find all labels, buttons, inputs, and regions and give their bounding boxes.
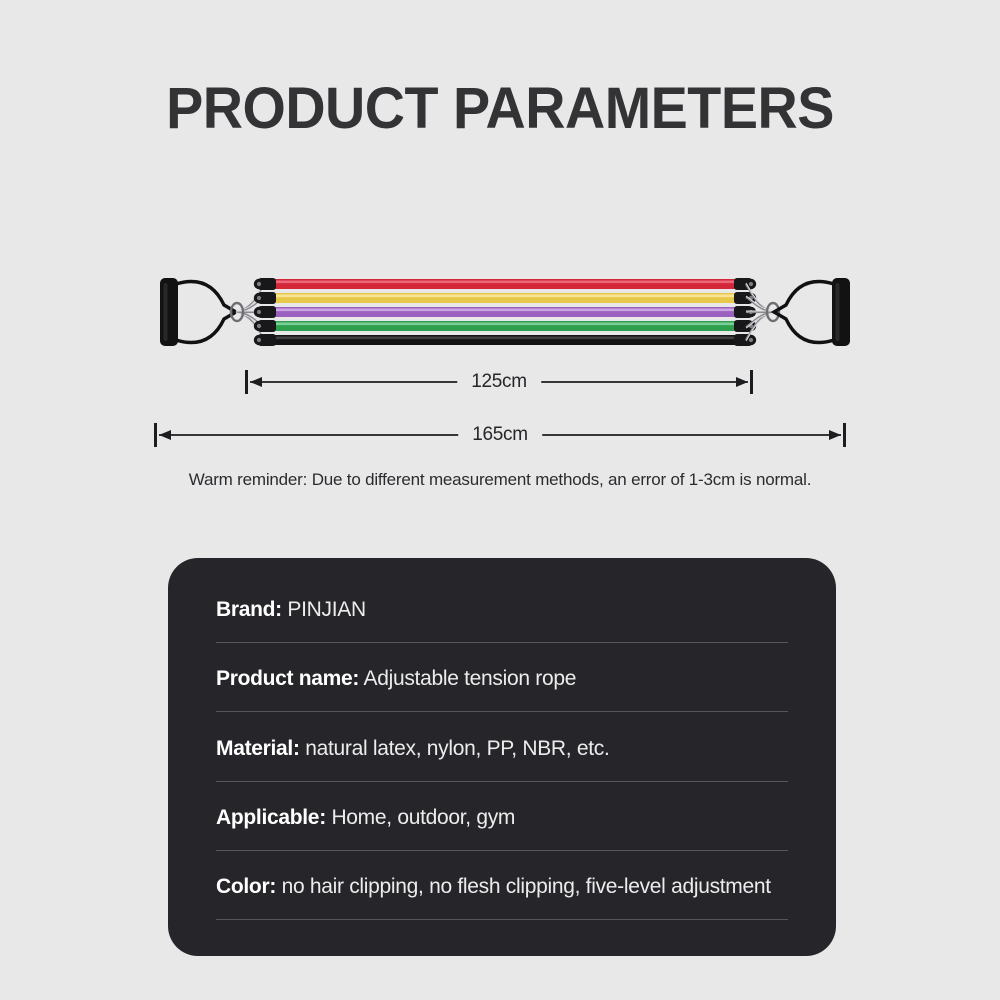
spec-row-product-name: Product name: Adjustable tension rope bbox=[216, 667, 788, 712]
spec-label-applicable: Applicable: bbox=[216, 806, 326, 829]
spec-label-brand: Brand: bbox=[216, 598, 282, 621]
band-red bbox=[268, 279, 742, 289]
spec-row-material: Material: natural latex, nylon, PP, NBR,… bbox=[216, 737, 788, 782]
spec-row-brand: Brand: PINJIAN bbox=[216, 598, 788, 643]
band-yellow bbox=[268, 293, 742, 303]
warm-reminder-text: Warm reminder: Due to different measurem… bbox=[0, 470, 1000, 490]
spec-value-applicable: Home, outdoor, gym bbox=[331, 806, 515, 829]
dimension-label-125cm: 125cm bbox=[457, 371, 541, 393]
spec-label-color: Color: bbox=[216, 875, 276, 898]
spec-value-material: natural latex, nylon, PP, NBR, etc. bbox=[305, 737, 609, 760]
spec-row-color: Color: no hair clipping, no flesh clippi… bbox=[216, 875, 788, 920]
product-image bbox=[140, 250, 870, 375]
band-green bbox=[268, 321, 742, 331]
page-title: PRODUCT PARAMETERS bbox=[20, 74, 980, 144]
band-purple bbox=[268, 307, 742, 317]
dimension-label-165cm: 165cm bbox=[458, 424, 542, 446]
spec-label-material: Material: bbox=[216, 737, 300, 760]
dimension-line-165cm: 165cm bbox=[154, 418, 846, 452]
spec-value-color: no hair clipping, no flesh clipping, fiv… bbox=[282, 875, 771, 898]
spec-value-product-name: Adjustable tension rope bbox=[364, 667, 577, 690]
right-handle bbox=[774, 278, 850, 346]
spec-row-applicable: Applicable: Home, outdoor, gym bbox=[216, 806, 788, 851]
right-wire-fan bbox=[746, 284, 774, 340]
spec-value-brand: PINJIAN bbox=[287, 598, 365, 621]
spec-label-product-name: Product name: bbox=[216, 667, 359, 690]
left-handle bbox=[160, 278, 236, 346]
left-clips bbox=[254, 278, 276, 346]
dimension-line-125cm: 125cm bbox=[245, 365, 753, 399]
specifications-card: Brand: PINJIAN Product name: Adjustable … bbox=[168, 558, 836, 956]
band-black bbox=[268, 335, 742, 345]
